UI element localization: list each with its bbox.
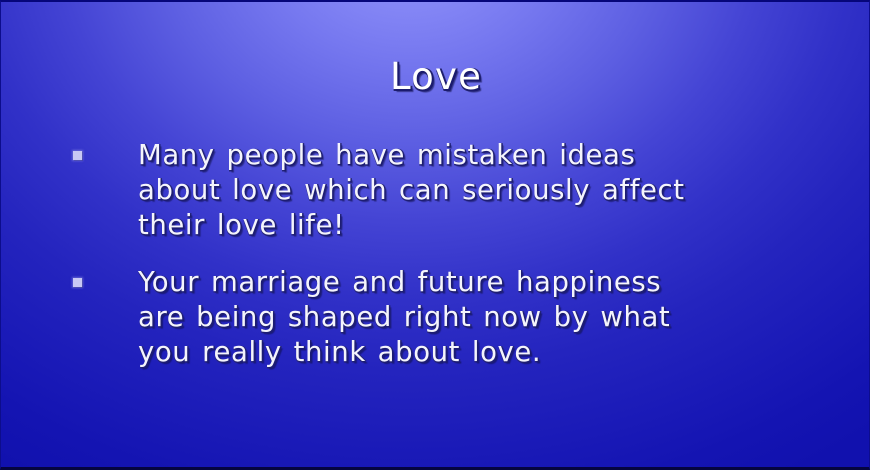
slide-title-area: Love	[1, 55, 870, 98]
bullet-line: you really think about love.	[138, 335, 835, 370]
bullet-text-block: Your marriage and future happiness are b…	[82, 265, 835, 370]
bullet-line: about love which can seriously affect	[138, 173, 835, 208]
square-bullet-icon	[73, 278, 82, 287]
bullet-line: their love life!	[138, 208, 835, 243]
square-bullet-icon	[73, 151, 82, 160]
bullet-line: are being shaped right now by what	[138, 300, 835, 335]
presentation-slide: Love Many people have mistaken ideas abo…	[0, 0, 870, 470]
slide-body: Many people have mistaken ideas about lo…	[65, 138, 835, 370]
page-title: Love	[390, 55, 482, 98]
list-item: Your marriage and future happiness are b…	[65, 265, 835, 370]
bullet-line: Your marriage and future happiness	[138, 265, 835, 300]
bullet-text-block: Many people have mistaken ideas about lo…	[82, 138, 835, 243]
bullet-line: Many people have mistaken ideas	[138, 138, 835, 173]
list-item: Many people have mistaken ideas about lo…	[65, 138, 835, 243]
